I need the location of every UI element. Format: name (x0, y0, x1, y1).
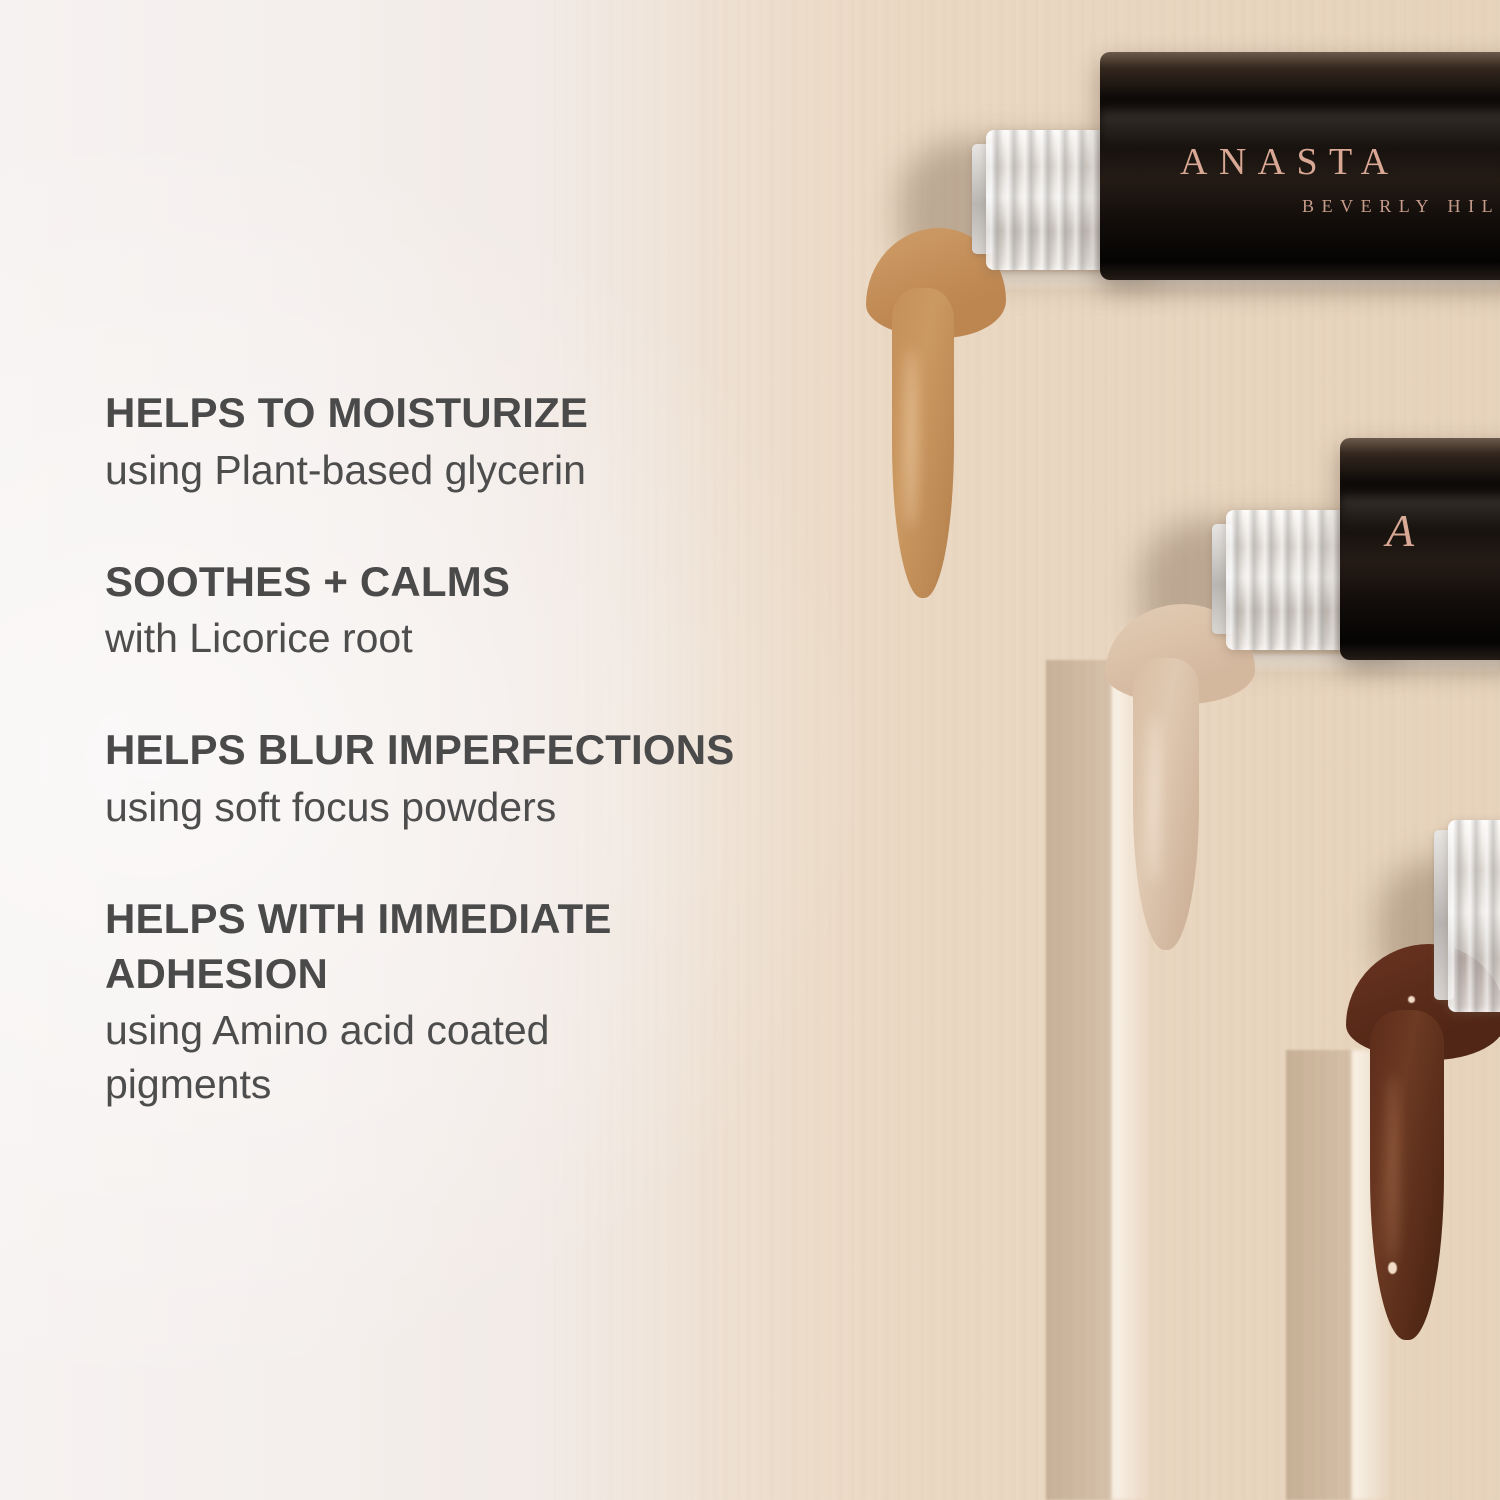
benefit-title: HELPS BLUR IMPERFECTIONS (105, 723, 905, 778)
brand-sublogo-text-1: BEVERLY HILL (1302, 196, 1500, 217)
tube-body-2: A (1340, 438, 1500, 660)
brand-logo-swash-2: A (1386, 504, 1414, 557)
benefit-item: HELPS TO MOISTURIZE using Plant-based gl… (105, 386, 905, 497)
product-tube-1[interactable]: ANASTA BEVERLY HILL (962, 52, 1500, 282)
brand-logo-text-1: ANASTA (1180, 140, 1399, 184)
cap-ribbing-3 (1448, 820, 1500, 1012)
product-tube-2[interactable]: A (1202, 432, 1500, 662)
drip-stream (1370, 1010, 1444, 1340)
drip-specular-1 (1408, 996, 1415, 1003)
product-benefits-graphic: ANASTA BEVERLY HILL A HELPS TO MOISTURIZ… (0, 0, 1500, 1500)
benefit-subtitle: using soft focus powders (105, 780, 905, 834)
benefit-subtitle: using Amino acid coated pigments (105, 1003, 705, 1111)
drip-specular-2 (1388, 1262, 1397, 1274)
product-tube-3[interactable] (1428, 812, 1500, 1032)
panel-shadow-band-1 (1046, 660, 1112, 1500)
drip-stream (1133, 658, 1199, 950)
drip-highlight (1386, 1074, 1399, 1264)
applicator-cap-3 (1448, 820, 1500, 1012)
panel-shadow-band-2 (1286, 1050, 1352, 1500)
benefit-item: HELPS BLUR IMPERFECTIONS using soft focu… (105, 723, 905, 834)
benefit-title: HELPS WITH IMMEDIATE ADHESION (105, 892, 765, 1001)
tube-body-1: ANASTA BEVERLY HILL (1100, 52, 1500, 280)
benefit-subtitle: using Plant-based glycerin (105, 443, 905, 497)
drip-highlight (1147, 714, 1161, 884)
benefit-subtitle: with Licorice root (105, 611, 905, 665)
benefit-title: HELPS TO MOISTURIZE (105, 386, 905, 441)
drip-highlight (904, 348, 918, 528)
benefit-title: SOOTHES + CALMS (105, 555, 905, 610)
benefits-list: HELPS TO MOISTURIZE using Plant-based gl… (105, 386, 905, 1112)
benefit-item: HELPS WITH IMMEDIATE ADHESION using Amin… (105, 892, 905, 1111)
benefit-item: SOOTHES + CALMS with Licorice root (105, 555, 905, 666)
